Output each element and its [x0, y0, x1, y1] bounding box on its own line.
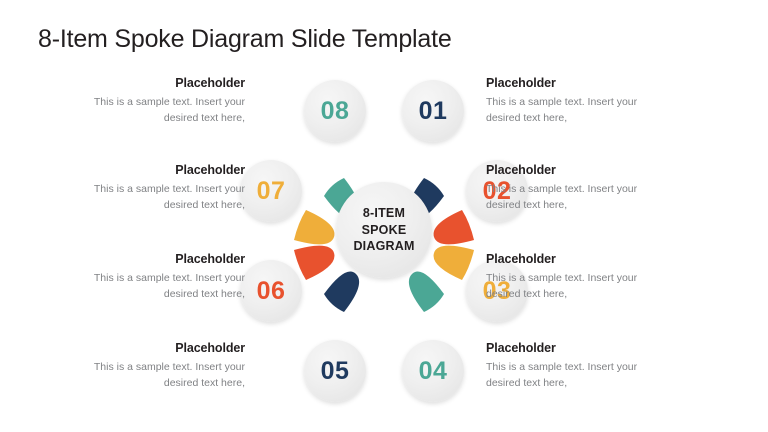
slide-canvas: 8-Item Spoke Diagram Slide Template [0, 0, 768, 432]
text-block-body-02: This is a sample text. Insert your desir… [486, 182, 666, 214]
spoke-node-06[interactable]: 06 [240, 260, 302, 322]
text-block-heading-03: Placeholder [486, 252, 666, 266]
text-block-08: Placeholder This is a sample text. Inser… [65, 76, 245, 127]
spoke-node-label-06: 06 [257, 277, 286, 306]
hub-text: 8-ITEM SPOKE DIAGRAM [353, 205, 414, 255]
spoke-path-06 [294, 246, 334, 280]
spoke-node-label-05: 05 [321, 357, 350, 386]
text-block-body-07: This is a sample text. Insert your desir… [65, 182, 245, 214]
spoke-path-07 [294, 210, 334, 244]
text-block-body-08: This is a sample text. Insert your desir… [65, 95, 245, 127]
text-block-body-04: This is a sample text. Insert your desir… [486, 360, 666, 392]
spoke-03 [434, 246, 474, 280]
text-block-heading-07: Placeholder [65, 163, 245, 177]
spoke-node-label-04: 04 [419, 357, 448, 386]
text-block-07: Placeholder This is a sample text. Inser… [65, 163, 245, 214]
spoke-path-04 [409, 272, 444, 313]
spoke-node-label-08: 08 [321, 97, 350, 126]
text-block-02: Placeholder This is a sample text. Inser… [486, 163, 666, 214]
spoke-path-05 [324, 272, 359, 313]
text-block-06: Placeholder This is a sample text. Inser… [65, 252, 245, 303]
text-block-01: Placeholder This is a sample text. Inser… [486, 76, 666, 127]
spoke-02 [434, 210, 474, 244]
text-block-heading-04: Placeholder [486, 341, 666, 355]
text-block-body-06: This is a sample text. Insert your desir… [65, 271, 245, 303]
spoke-07 [294, 210, 334, 244]
text-block-heading-02: Placeholder [486, 163, 666, 177]
hub-line-3: DIAGRAM [353, 238, 414, 255]
text-block-04: Placeholder This is a sample text. Inser… [486, 341, 666, 392]
text-block-body-01: This is a sample text. Insert your desir… [486, 95, 666, 127]
text-block-heading-06: Placeholder [65, 252, 245, 266]
spoke-node-08[interactable]: 08 [304, 80, 366, 142]
spoke-node-04[interactable]: 04 [402, 340, 464, 402]
spoke-node-05[interactable]: 05 [304, 340, 366, 402]
text-block-heading-05: Placeholder [65, 341, 245, 355]
spoke-path-03 [434, 246, 474, 280]
spoke-node-label-07: 07 [257, 177, 286, 206]
text-block-heading-01: Placeholder [486, 76, 666, 90]
page-title: 8-Item Spoke Diagram Slide Template [38, 25, 452, 54]
text-block-heading-08: Placeholder [65, 76, 245, 90]
spoke-node-label-01: 01 [419, 97, 448, 126]
spoke-04 [409, 272, 444, 313]
spoke-node-07[interactable]: 07 [240, 160, 302, 222]
hub-line-1: 8-ITEM [353, 205, 414, 222]
text-block-03: Placeholder This is a sample text. Inser… [486, 252, 666, 303]
spoke-06 [294, 246, 334, 280]
spoke-node-01[interactable]: 01 [402, 80, 464, 142]
hub-line-2: SPOKE [353, 222, 414, 239]
spoke-path-02 [434, 210, 474, 244]
diagram-hub[interactable]: 8-ITEM SPOKE DIAGRAM [336, 182, 432, 278]
text-block-05: Placeholder This is a sample text. Inser… [65, 341, 245, 392]
text-block-body-03: This is a sample text. Insert your desir… [486, 271, 666, 303]
text-block-body-05: This is a sample text. Insert your desir… [65, 360, 245, 392]
spoke-05 [324, 272, 359, 313]
